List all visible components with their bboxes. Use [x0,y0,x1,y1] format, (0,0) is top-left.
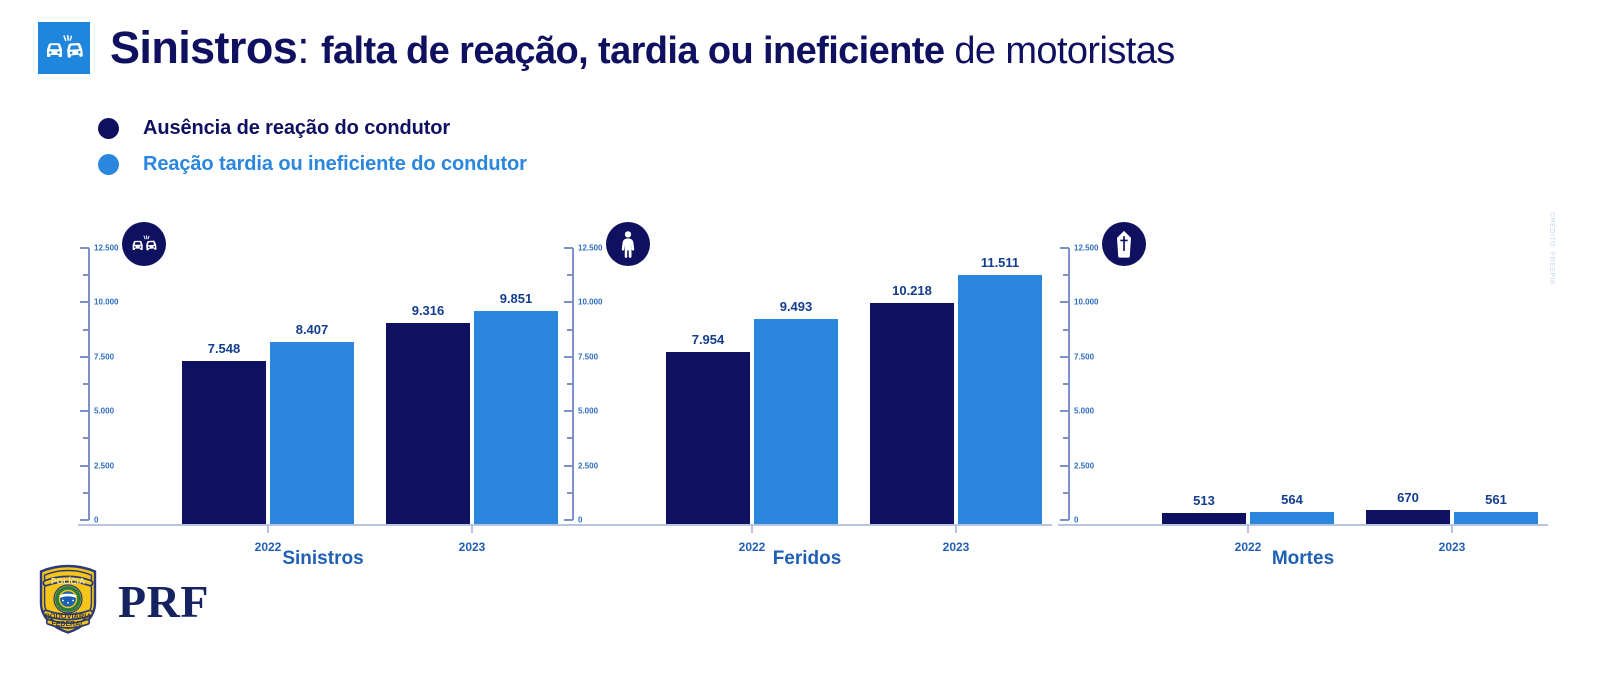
plot-area-mortes: 02.5005.0007.50010.00012.500 51356420226… [1058,248,1548,526]
y-tick-minor [83,329,89,331]
bar-rect [1250,512,1334,524]
y-tick-minor [567,383,573,385]
chart-feridos: 02.5005.0007.50010.00012.500 7.9549.4932… [562,200,1052,580]
y-tick-minor [83,383,89,385]
bar-rect [182,361,266,524]
svg-text:FEDERAL: FEDERAL [51,621,85,628]
y-tick-label: 5.000 [94,407,114,416]
bar-rect [386,323,470,524]
title-part-1: Sinistros [110,22,297,73]
bar-rect [666,352,750,524]
y-tick-label: 10.000 [578,298,602,307]
bar-mortes-2022-s1[interactable]: 564 [1250,512,1334,524]
y-tick [1060,465,1069,467]
y-tick [1060,356,1069,358]
y-tick-minor [1063,492,1069,494]
bar-feridos-2022-s1[interactable]: 9.493 [754,319,838,524]
plot-area-feridos: 02.5005.0007.50010.00012.500 7.9549.4932… [562,248,1052,526]
title-part-2: falta de reação, tardia ou ineficiente [321,30,944,72]
x-axis-baseline [78,524,568,526]
y-tick [1060,410,1069,412]
bar-value-label: 7.548 [208,341,241,356]
y-tick [564,247,573,249]
chart-title-mortes: Mortes [1058,548,1548,570]
y-tick-minor [1063,274,1069,276]
y-tick [80,301,89,303]
y-tick [80,247,89,249]
y-tick [564,465,573,467]
bar-value-label: 564 [1281,492,1303,507]
bar-sinistros-2023-s1[interactable]: 9.851 [474,311,558,524]
y-tick [1060,519,1069,521]
y-tick-minor [83,437,89,439]
prf-badge-logo: POLÍCIA RODOVIÁRIA FEDERAL [32,563,104,640]
y-tick-minor [1063,383,1069,385]
y-tick-minor [567,492,573,494]
bar-mortes-2023-s1[interactable]: 561 [1454,512,1538,524]
page-footer: POLÍCIA RODOVIÁRIA FEDERAL PRF [32,563,209,640]
y-tick-label: 10.000 [1074,298,1098,307]
y-tick [80,356,89,358]
y-tick [80,410,89,412]
y-tick-minor [83,492,89,494]
bar-sinistros-2022-s0[interactable]: 7.548 [182,361,266,524]
plot-area-sinistros: 02.5005.0007.50010.00012.500 7.5488.4072… [78,248,568,526]
y-tick-minor [567,274,573,276]
y-tick-label: 5.000 [578,407,598,416]
legend-item-reacao-tardia: Reação tardia ou ineficiente do condutor [98,148,527,180]
y-tick-label: 2.500 [94,461,114,470]
car-crash-icon [38,22,90,74]
y-tick-label: 12.500 [94,244,118,253]
bar-mortes-2022-s0[interactable]: 513 [1162,513,1246,524]
svg-text:RODOVIÁRIA: RODOVIÁRIA [44,611,92,620]
bar-value-label: 9.316 [412,303,445,318]
charts-container: 02.5005.0007.50010.00012.500 7.5488.4072… [0,200,1600,580]
chart-legend: Ausência de reação do condutor Reação ta… [98,112,527,184]
bar-mortes-2023-s0[interactable]: 670 [1366,510,1450,524]
bar-rect [870,303,954,524]
chart-title-feridos: Feridos [562,548,1052,570]
y-tick-minor [567,329,573,331]
y-tick [80,519,89,521]
y-tick [80,465,89,467]
bar-value-label: 8.407 [296,322,329,337]
x-axis-baseline [1058,524,1548,526]
bar-feridos-2022-s0[interactable]: 7.954 [666,352,750,524]
y-tick-label: 7.500 [94,352,114,361]
bar-sinistros-2023-s0[interactable]: 9.316 [386,323,470,524]
legend-label-ausencia: Ausência de reação do condutor [143,117,450,140]
bar-rect [1366,510,1450,524]
bar-feridos-2023-s1[interactable]: 11.511 [958,275,1042,524]
y-tick-label: 2.500 [1074,461,1094,470]
bars-sinistros: 7.5488.40720229.3169.8512023 [144,248,568,524]
page-title: Sinistros: falta de reação, tardia ou in… [110,24,1175,72]
y-tick-label: 12.500 [1074,244,1098,253]
legend-label-reacao-tardia: Reação tardia ou ineficiente do condutor [143,153,527,176]
y-tick [564,356,573,358]
title-separator: : [297,22,321,73]
bar-sinistros-2022-s1[interactable]: 8.407 [270,342,354,524]
bar-value-label: 10.218 [892,283,932,298]
bar-rect [474,311,558,524]
chart-sinistros: 02.5005.0007.50010.00012.500 7.5488.4072… [78,200,568,580]
bar-rect [958,275,1042,524]
legend-swatch-navy [98,118,119,139]
bar-rect [1162,513,1246,524]
y-tick-label: 7.500 [578,352,598,361]
bar-rect [270,342,354,524]
bar-rect [754,319,838,524]
y-tick-label: 5.000 [1074,407,1094,416]
legend-item-ausencia: Ausência de reação do condutor [98,112,527,144]
y-tick [564,301,573,303]
legend-swatch-blue [98,154,119,175]
bar-rect [1454,512,1538,524]
bar-value-label: 561 [1485,492,1507,507]
y-tick-minor [567,437,573,439]
chart-mortes: 02.5005.0007.50010.00012.500 51356420226… [1058,200,1548,580]
page-header: Sinistros: falta de reação, tardia ou in… [38,22,1175,74]
bar-value-label: 9.851 [500,291,533,306]
bars-mortes: 51356420226705612023 [1124,248,1548,524]
y-tick [1060,247,1069,249]
bar-value-label: 7.954 [692,332,725,347]
y-tick-label: 10.000 [94,298,118,307]
y-tick [564,410,573,412]
bar-value-label: 670 [1397,490,1419,505]
bar-value-label: 513 [1193,493,1215,508]
y-tick-minor [83,274,89,276]
y-tick [1060,301,1069,303]
y-tick [564,519,573,521]
bars-feridos: 7.9549.493202210.21811.5112023 [628,248,1052,524]
y-tick-minor [1063,437,1069,439]
credit-text: CRÉDITO: FREEPIK [1548,212,1555,292]
bar-value-label: 11.511 [981,255,1019,270]
infographic-page: Sinistros: falta de reação, tardia ou in… [0,0,1600,684]
y-tick-label: 2.500 [578,461,598,470]
y-tick-label: 7.500 [1074,352,1094,361]
title-part-3: de motoristas [944,30,1174,72]
y-tick-label: 12.500 [578,244,602,253]
bar-value-label: 9.493 [780,299,813,314]
y-tick-minor [1063,329,1069,331]
prf-wordmark: PRF [118,575,209,628]
bar-feridos-2023-s0[interactable]: 10.218 [870,303,954,524]
svg-text:POLÍCIA: POLÍCIA [51,575,85,586]
x-axis-baseline [562,524,1052,526]
